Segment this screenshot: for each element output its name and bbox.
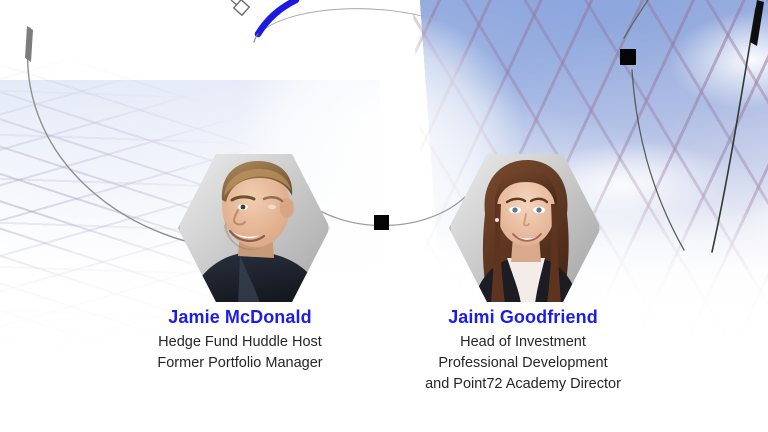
dark-arc-far-right [712,8,756,252]
gray-arc-left-cap [25,26,33,62]
dark-arc-right-stem [624,0,648,38]
person-block-jamie-mcdonald: Jamie McDonald Hedge Fund Huddle Host Fo… [75,306,405,374]
slide-canvas: Jamie McDonald Hedge Fund Huddle Host Fo… [0,0,768,432]
diamond-marker-stem [231,0,237,5]
dark-arc-right-lower [632,70,684,250]
square-marker-center [374,215,389,230]
person-role-line: Head of Investment [358,332,688,353]
person-role-line: Hedge Fund Huddle Host [75,332,405,353]
person-role-line: Former Portfolio Manager [75,353,405,374]
person-role: Head of Investment Professional Developm… [358,332,688,395]
person-role-line: and Point72 Academy Director [358,374,688,395]
person-name: Jamie McDonald [75,306,405,328]
square-marker-right [620,49,636,65]
gray-arc-center-upper [266,9,436,28]
diamond-outline-marker [234,0,250,15]
dark-arc-far-right-cap [750,0,764,46]
person-block-jaimi-goodfriend: Jaimi Goodfriend Head of Investment Prof… [358,306,688,395]
person-name: Jaimi Goodfriend [358,306,688,328]
person-role-line: Professional Development [358,353,688,374]
person-role: Hedge Fund Huddle Host Former Portfolio … [75,332,405,374]
